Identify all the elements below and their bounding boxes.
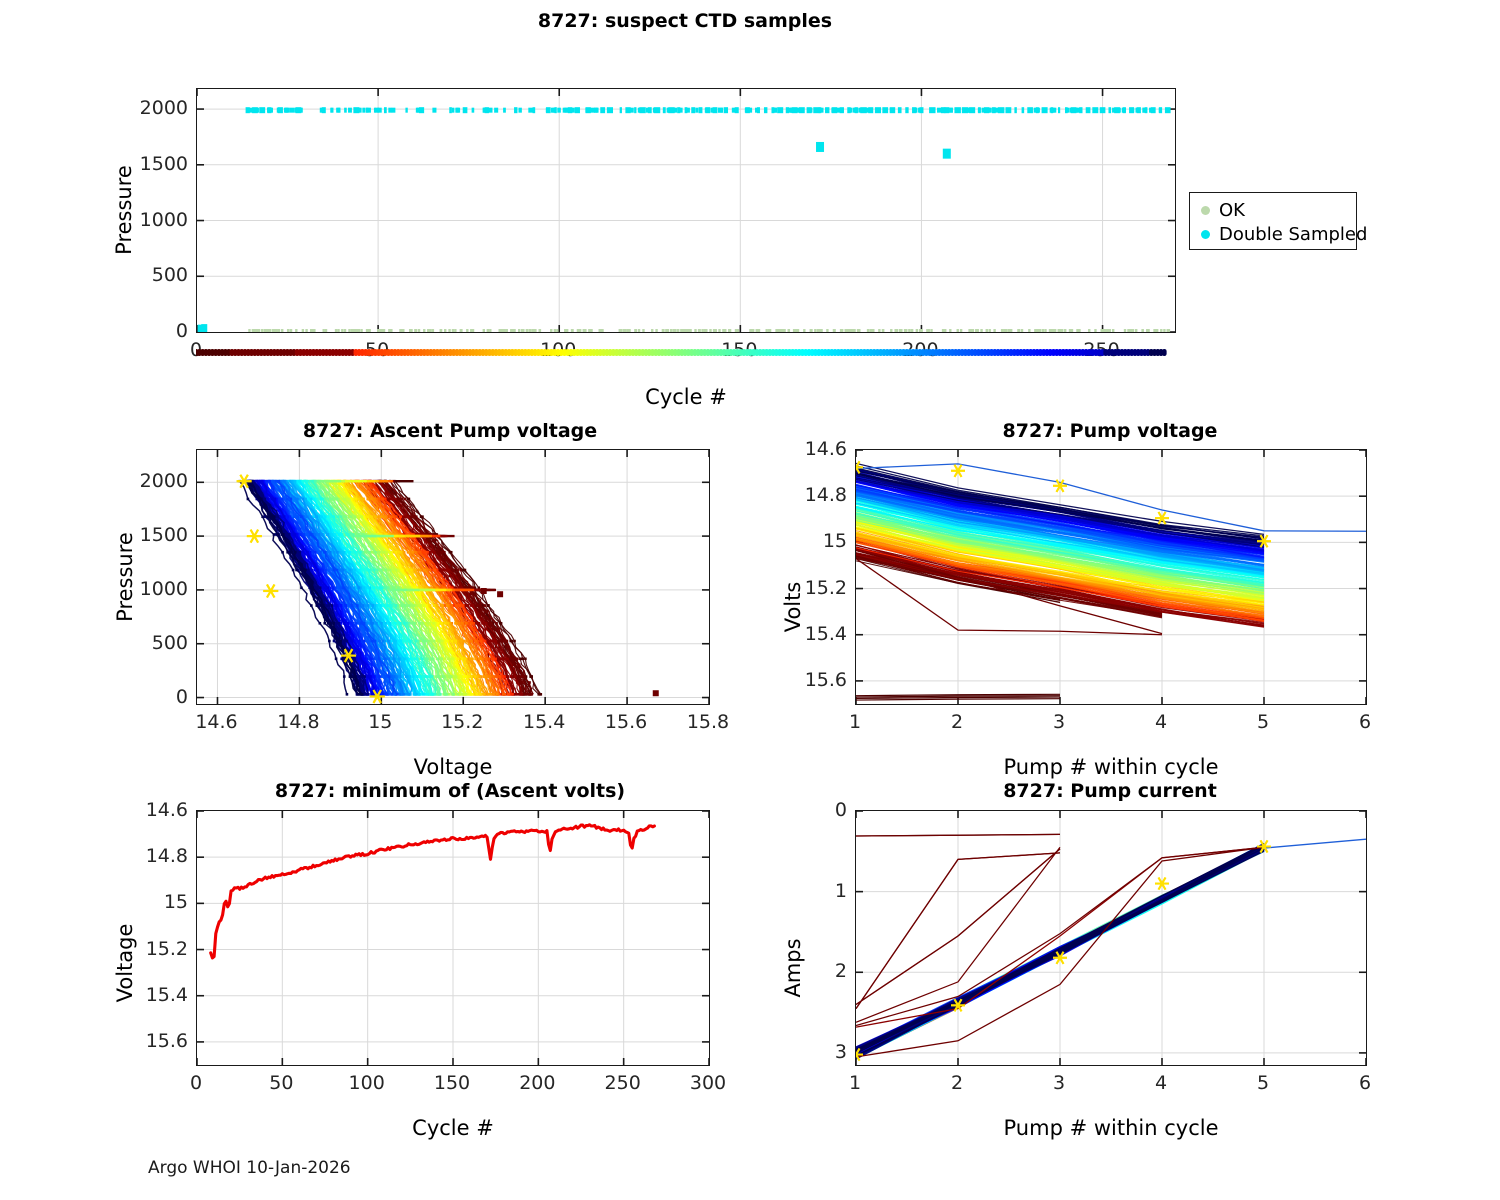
ytick-ascent_voltage-4: 2000	[108, 470, 188, 492]
axes-suspect-ctd-samples[interactable]	[196, 88, 1176, 333]
ytick-ascent_voltage-1: 500	[108, 632, 188, 654]
panel-title-suspect: 8727: suspect CTD samples	[0, 10, 1370, 32]
ytick-pump_voltage-1: 14.8	[767, 484, 847, 506]
xtick-ascent_voltage-5: 15.6	[605, 711, 647, 733]
xtick-min_ascent-1: 50	[269, 1072, 293, 1094]
ytick-suspect-4: 2000	[108, 97, 188, 119]
xtick-ascent_voltage-6: 15.8	[687, 711, 729, 733]
legend-suspect[interactable]: OK Double Sampled	[1189, 192, 1357, 250]
xtick-pump_voltage-2: 3	[1053, 711, 1065, 733]
xtick-min_ascent-3: 150	[434, 1072, 470, 1094]
xtick-pump_current-5: 6	[1359, 1072, 1371, 1094]
axis-label-cycle-min: Cycle #	[412, 1116, 494, 1140]
ytick-ascent_voltage-2: 1000	[108, 578, 188, 600]
axes-min-ascent-volts[interactable]	[196, 810, 710, 1066]
axes-ascent-pump-voltage[interactable]	[196, 449, 710, 705]
xtick-min_ascent-2: 100	[349, 1072, 385, 1094]
xtick-min_ascent-5: 250	[605, 1072, 641, 1094]
ytick-ascent_voltage-0: 0	[108, 686, 188, 708]
xtick-min_ascent-4: 200	[519, 1072, 555, 1094]
xtick-pump_current-1: 2	[951, 1072, 963, 1094]
ytick-suspect-0: 0	[108, 320, 188, 342]
axis-label-pump-num-current: Pump # within cycle	[1004, 1116, 1219, 1140]
ytick-min_ascent-1: 14.8	[108, 845, 188, 867]
ytick-pump_voltage-0: 14.6	[767, 438, 847, 460]
cycle-colorbar-strip	[196, 341, 1174, 363]
ytick-min_ascent-0: 14.6	[108, 799, 188, 821]
ytick-pump_current-3: 3	[767, 1041, 847, 1063]
ytick-pump_current-0: 0	[767, 799, 847, 821]
legend-item-double-sampled: Double Sampled	[1197, 222, 1347, 246]
ytick-min_ascent-5: 15.6	[108, 1030, 188, 1052]
legend-swatch-double-sampled	[1201, 230, 1210, 239]
panel-title-pump-voltage: 8727: Pump voltage	[760, 420, 1460, 442]
ytick-pump_voltage-2: 15	[767, 530, 847, 552]
xtick-pump_current-4: 5	[1257, 1072, 1269, 1094]
ytick-suspect-2: 1000	[108, 209, 188, 231]
xtick-ascent_voltage-1: 14.8	[277, 711, 319, 733]
ytick-min_ascent-3: 15.2	[108, 938, 188, 960]
xtick-pump_voltage-3: 4	[1155, 711, 1167, 733]
axis-label-cycle-suspect: Cycle #	[645, 385, 727, 409]
axes-pump-current[interactable]	[855, 810, 1367, 1066]
legend-swatch-ok	[1201, 206, 1210, 215]
xtick-pump_voltage-1: 2	[951, 711, 963, 733]
legend-label-ok: OK	[1219, 200, 1245, 221]
ytick-pump_voltage-3: 15.2	[767, 577, 847, 599]
ytick-pump_voltage-5: 15.6	[767, 669, 847, 691]
xtick-ascent_voltage-0: 14.6	[195, 711, 237, 733]
xtick-pump_voltage-4: 5	[1257, 711, 1269, 733]
xtick-ascent_voltage-4: 15.4	[523, 711, 565, 733]
ytick-pump_current-2: 2	[767, 960, 847, 982]
figure-footer: Argo WHOI 10-Jan-2026	[148, 1158, 351, 1178]
ytick-min_ascent-4: 15.4	[108, 984, 188, 1006]
xtick-min_ascent-6: 300	[690, 1072, 726, 1094]
legend-item-ok: OK	[1197, 198, 1347, 222]
ytick-suspect-3: 1500	[108, 153, 188, 175]
ytick-pump_voltage-4: 15.4	[767, 623, 847, 645]
xtick-pump_current-3: 4	[1155, 1072, 1167, 1094]
legend-label-double-sampled: Double Sampled	[1219, 224, 1367, 245]
xtick-ascent_voltage-2: 15	[368, 711, 392, 733]
ytick-suspect-1: 500	[108, 264, 188, 286]
ytick-ascent_voltage-3: 1500	[108, 524, 188, 546]
xtick-pump_current-2: 3	[1053, 1072, 1065, 1094]
xtick-min_ascent-0: 0	[190, 1072, 202, 1094]
xtick-pump_voltage-5: 6	[1359, 711, 1371, 733]
panel-title-pump-current: 8727: Pump current	[760, 780, 1460, 802]
xtick-pump_voltage-0: 1	[849, 711, 861, 733]
ytick-min_ascent-2: 15	[108, 891, 188, 913]
axes-pump-voltage[interactable]	[855, 449, 1367, 705]
ytick-pump_current-1: 1	[767, 880, 847, 902]
xtick-pump_current-0: 1	[849, 1072, 861, 1094]
xtick-ascent_voltage-3: 15.2	[441, 711, 483, 733]
